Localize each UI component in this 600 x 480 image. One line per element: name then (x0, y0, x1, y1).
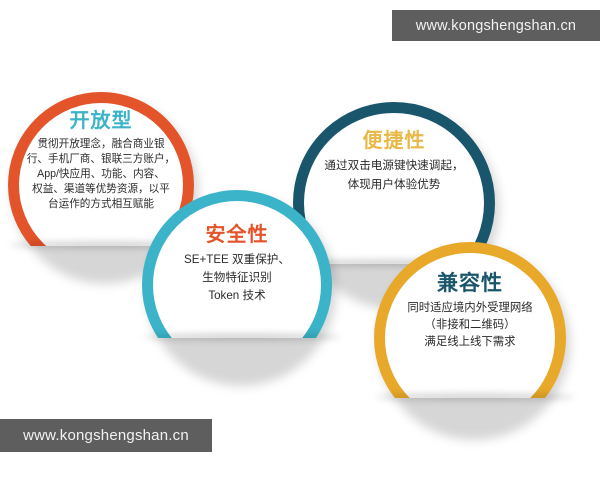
diagram-canvas: 开放型 贯彻开放理念，融合商业银 行、手机厂商、银联三方账户， App/快应用、… (0, 0, 600, 480)
circle-ground-shadow (376, 394, 574, 400)
circle-title-secure: 安全性 (142, 224, 332, 246)
circle-body-compat: 同时适应境内外受理网络 （非接和二维码） 满足线上线下需求 (374, 300, 566, 351)
circle-title-open: 开放型 (8, 110, 194, 132)
watermark-top-right: www.kongshengshan.cn (392, 10, 600, 41)
circle-text-compat: 兼容性 同时适应境内外受理网络 （非接和二维码） 满足线上线下需求 (374, 272, 566, 351)
circle-title-compat: 兼容性 (374, 272, 566, 295)
circle-title-fast: 便捷性 (293, 130, 495, 152)
watermark-bottom-left: www.kongshengshan.cn (0, 419, 212, 452)
circle-text-fast: 便捷性 通过双击电源键快速调起， 体现用户体验优势 (293, 130, 495, 194)
feature-circle-secure[interactable]: 安全性 SE+TEE 双重保护、 生物特征识别 Token 技术 (142, 190, 332, 340)
circle-text-secure: 安全性 SE+TEE 双重保护、 生物特征识别 Token 技术 (142, 224, 332, 305)
circle-body-secure: SE+TEE 双重保护、 生物特征识别 Token 技术 (142, 251, 332, 305)
circle-body-fast: 通过双击电源键快速调起， 体现用户体验优势 (293, 157, 495, 194)
circle-ground-shadow (144, 334, 340, 340)
feature-circle-compat[interactable]: 兼容性 同时适应境内外受理网络 （非接和二维码） 满足线上线下需求 (374, 242, 566, 400)
